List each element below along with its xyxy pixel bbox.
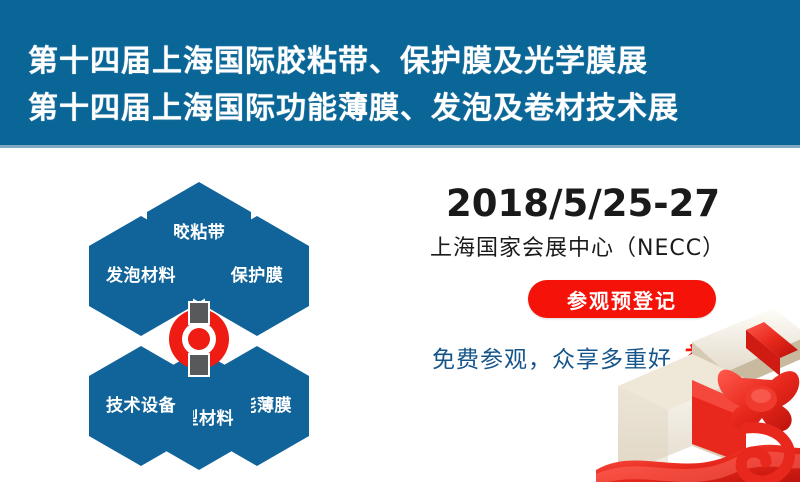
banner-header: 第十四届上海国际胶粘带、保护膜及光学膜展 第十四届上海国际功能薄膜、发泡及卷材技… [0, 0, 800, 145]
category-hexagon-diagram: 胶粘带 保护膜 功能薄膜 离型材料 技术设备 [34, 176, 364, 476]
event-venue: 上海国家会展中心（NECC） [430, 230, 725, 262]
exhibition-banner: 第十四届上海国际胶粘带、保护膜及光学膜展 第十四届上海国际功能薄膜、发泡及卷材技… [0, 0, 800, 482]
promo-text-highlight: 礼 [680, 343, 708, 374]
hex-label-top-right: 保护膜 [230, 265, 284, 286]
event-info-panel: 2018/5/25-27 上海国家会展中心（NECC） 参观预登记 免费参观，众… [420, 170, 790, 470]
promo-text: 免费参观，众享多重好礼 [432, 336, 708, 375]
event-date: 2018/5/25-27 [446, 182, 720, 225]
hex-label-bottom-left: 技术设备 [106, 395, 176, 416]
hexagon-diagram-svg: 胶粘带 保护膜 功能薄膜 离型材料 技术设备 [34, 176, 364, 476]
promo-text-main: 免费参观，众享多重好 [432, 347, 672, 373]
header-title-line-2: 第十四届上海国际功能薄膜、发泡及卷材技术展 [28, 83, 679, 127]
visitor-preregister-button[interactable]: 参观预登记 [528, 280, 716, 318]
visitor-preregister-button-label: 参观预登记 [567, 285, 677, 314]
header-title-line-1: 第十四届上海国际胶粘带、保护膜及光学膜展 [28, 36, 648, 80]
hex-label-top-left: 发泡材料 [105, 265, 176, 286]
header-divider [0, 145, 800, 148]
